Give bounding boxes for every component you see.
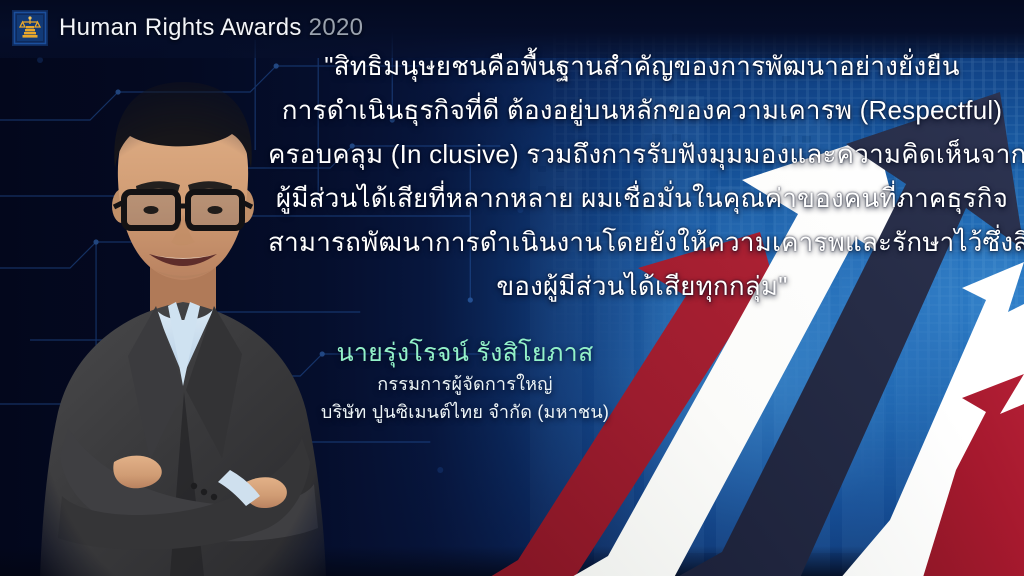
quote-line-1: "สิทธิมนุษยชนคือพื้นฐานสำคัญของการพัฒนาอ… xyxy=(268,44,1016,88)
attribution-block: นายรุ่งโรจน์ รังสิโยภาส กรรมการผู้จัดการ… xyxy=(300,336,630,426)
speaker-role: กรรมการผู้จัดการใหญ่ xyxy=(300,370,630,398)
speaker-name: นายรุ่งโรจน์ รังสิโยภาส xyxy=(300,336,630,370)
quote-line-2: การดำเนินธุรกิจที่ดี ต้องอยู่บนหลักของคว… xyxy=(268,88,1016,132)
header-year: 2020 xyxy=(309,14,364,41)
presentation-slide: Human Rights Awards 2020 "สิทธิมนุษยชนคื… xyxy=(0,0,1024,576)
quote-line-4: ผู้มีส่วนได้เสียที่หลากหลาย ผมเชื่อมั่นใ… xyxy=(268,176,1016,220)
quote-line-6: ของผู้มีส่วนได้เสียทุกกลุ่ม" xyxy=(268,264,1016,308)
header-title-text: Human Rights Awards xyxy=(59,14,302,41)
quote-line-3: ครอบคลุม (In clusive) รวมถึงการรับฟังมุม… xyxy=(268,132,1016,176)
page-title: Human Rights Awards 2020 xyxy=(59,16,363,40)
slide-header: Human Rights Awards 2020 xyxy=(12,10,363,46)
human-rights-awards-logo-icon xyxy=(12,10,48,46)
quote-line-5: สามารถพัฒนาการดำเนินงานโดยยังให้ความเคาร… xyxy=(268,220,1016,264)
speaker-organization: บริษัท ปูนซิเมนต์ไทย จำกัด (มหาชน) xyxy=(300,398,630,426)
quote-block: "สิทธิมนุษยชนคือพื้นฐานสำคัญของการพัฒนาอ… xyxy=(268,44,1016,308)
